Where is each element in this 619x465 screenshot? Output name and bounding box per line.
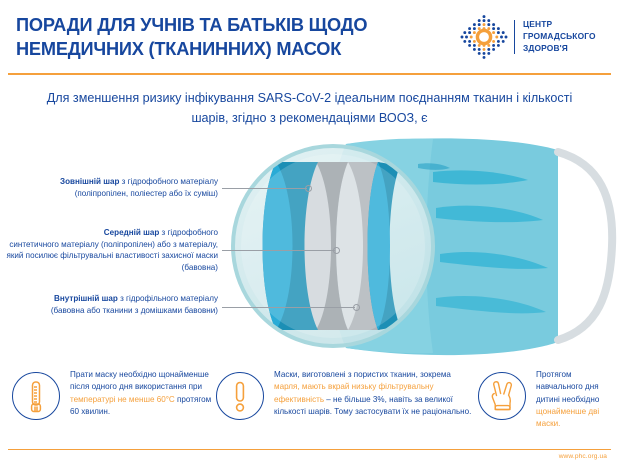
layer-label-middle-rest: з гідрофобного [159, 228, 218, 237]
text-run-1: температурі не менше 60°С [70, 395, 175, 404]
layer-label-outer: Зовнішній шар з гідрофобного матеріалу (… [4, 176, 218, 199]
logo-line-1: ЦЕНТР [523, 19, 596, 31]
footer-url: www.phc.org.ua [559, 453, 607, 460]
leader-line-inner [222, 307, 355, 308]
layer-label-inner-title: Внутрішній шар з гідрофільного матеріалу [4, 293, 218, 305]
leader-line-middle [222, 250, 335, 251]
logo-divider [514, 20, 515, 54]
layer-label-inner-rest: з гідрофільного матеріалу [118, 294, 218, 303]
header-divider-rule [8, 73, 611, 75]
text-run-0: Протягом навчального дня дитині необхідн… [536, 370, 599, 404]
tip-two-masks-text: Протягом навчального дня дитині необхідн… [526, 366, 614, 430]
phc-dot-ring-logo-icon [458, 13, 510, 61]
layer-label-middle-detail: синтетичного матеріалу (поліпропілен) аб… [4, 239, 218, 274]
leader-dot-middle [333, 247, 340, 254]
page-title: ПОРАДИ ДЛЯ УЧНІВ ТА БАТЬКІВ ЩОДО НЕМЕДИЧ… [16, 14, 446, 61]
leader-dot-inner [353, 304, 360, 311]
leader-dot-outer [305, 185, 312, 192]
header: ПОРАДИ ДЛЯ УЧНІВ ТА БАТЬКІВ ЩОДО НЕМЕДИЧ… [0, 0, 619, 74]
layer-label-outer-rest: з гідрофобного матеріалу [119, 177, 218, 186]
layer-label-outer-title: Зовнішній шар з гідрофобного матеріалу [4, 176, 218, 188]
phc-logo: ЦЕНТР ГРОМАДСЬКОГО ЗДОРОВ'Я [458, 13, 608, 61]
intro-text: Для зменшення ризику інфікування SARS-Co… [45, 88, 574, 129]
text-run-1: щонайменше дві маски. [536, 407, 599, 428]
layer-label-inner-detail: (бавовна або тканини з домішками бавовни… [4, 305, 218, 317]
exclamation-icon-circle [216, 372, 264, 420]
layer-label-inner-bold: Внутрішній шар [54, 294, 118, 303]
footer-divider-rule [8, 449, 611, 450]
layer-label-middle-bold: Середній шар [104, 228, 159, 237]
two-fingers-hand-icon-circle [478, 372, 526, 420]
text-run-0: Прати маску необхідно щонайменше після о… [70, 370, 209, 391]
logo-wordmark: ЦЕНТР ГРОМАДСЬКОГО ЗДОРОВ'Я [523, 19, 596, 55]
tips-row: Прати маску необхідно щонайменше після о… [0, 366, 619, 444]
layer-label-outer-detail: (поліпропілен, поліестер або їх суміш) [4, 188, 218, 200]
layer-label-middle: Середній шар з гідрофобного синтетичного… [4, 227, 218, 273]
logo-line-3: ЗДОРОВ'Я [523, 43, 596, 55]
layer-label-outer-bold: Зовнішній шар [60, 177, 119, 186]
thermometer-icon [13, 373, 59, 419]
tip-wash-mask: Прати маску необхідно щонайменше після о… [12, 366, 212, 420]
leader-line-outer [222, 188, 307, 189]
thermometer-icon-circle [12, 372, 60, 420]
layer-label-inner: Внутрішній шар з гідрофільного матеріалу… [4, 293, 218, 316]
exclamation-icon [217, 373, 263, 419]
magnified-layers-group [233, 146, 433, 346]
two-fingers-hand-icon [479, 373, 525, 419]
text-run-0: Маски, виготовлені з пористих тканин, зо… [274, 370, 451, 379]
tip-porous-fabric-text: Маски, виготовлені з пористих тканин, зо… [264, 366, 474, 418]
tip-two-masks: Протягом навчального дня дитині необхідн… [478, 366, 614, 430]
tip-wash-mask-text: Прати маску необхідно щонайменше після о… [60, 366, 212, 418]
tip-porous-fabric: Маски, виготовлені з пористих тканин, зо… [216, 366, 474, 420]
logo-line-2: ГРОМАДСЬКОГО [523, 31, 596, 43]
layer-label-middle-title: Середній шар з гідрофобного [4, 227, 218, 239]
